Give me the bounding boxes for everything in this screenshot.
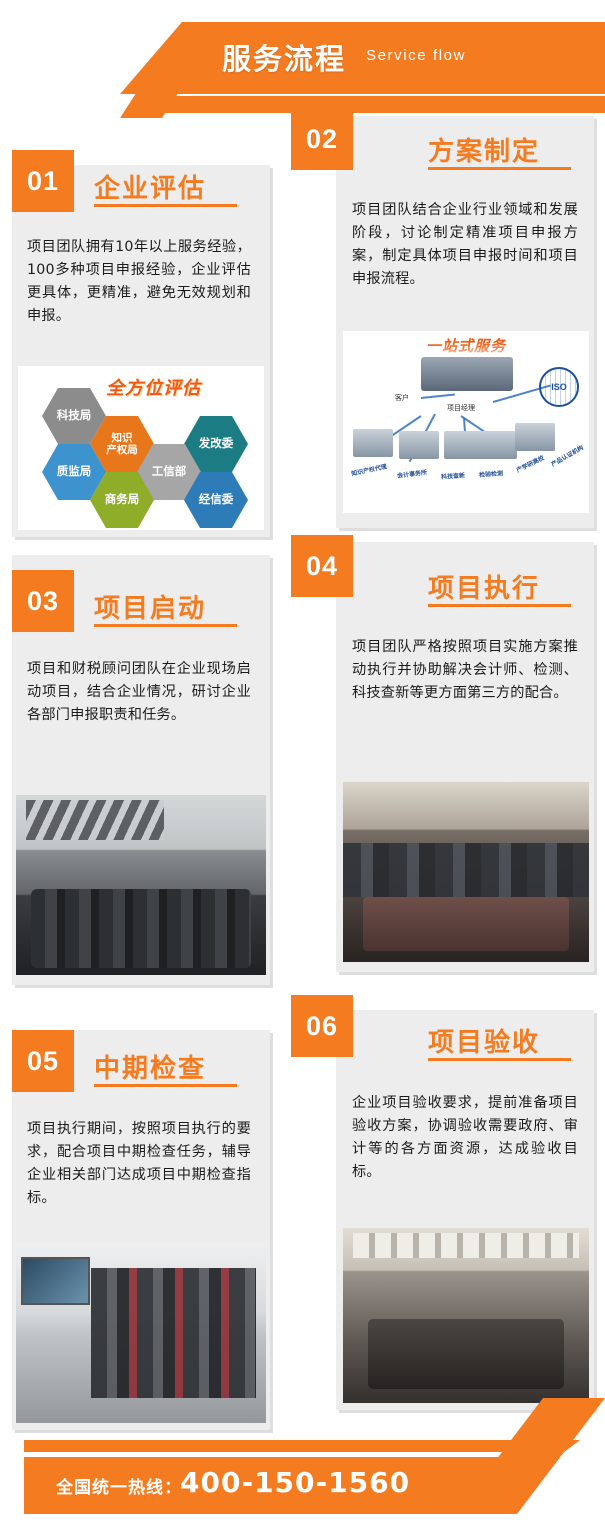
step-badge-02: 02 xyxy=(291,108,353,170)
step-badge-05: 05 xyxy=(12,1030,74,1092)
step-title-rule-05 xyxy=(94,1084,237,1087)
one-stop-node-label-search: 科技查新 xyxy=(441,470,466,481)
hotline-number[interactable]: 400-150-1560 xyxy=(180,1466,410,1499)
one-stop-node-photo xyxy=(399,431,439,459)
step-title-01: 企业评估 xyxy=(94,168,206,205)
one-stop-center-photo xyxy=(421,357,513,391)
one-stop-node-label-accounting: 会计事务所 xyxy=(397,467,428,480)
step-title-04: 项目执行 xyxy=(428,568,540,605)
step-title-06: 项目验收 xyxy=(428,1022,540,1059)
one-stop-node-photo xyxy=(515,423,555,451)
one-stop-title: 一站式服务 xyxy=(343,335,589,356)
step-title-03: 项目启动 xyxy=(94,588,206,625)
one-stop-arrow xyxy=(421,393,455,399)
header-thin-band xyxy=(148,96,605,113)
step-body-06: 企业项目验收要求，提前准备项目验收方案，协调验收需要政府、审计等的各方面资源，达… xyxy=(352,1092,578,1184)
step-badge-04: 04 xyxy=(291,535,353,597)
step-number-01: 01 xyxy=(27,166,59,197)
step-number-03: 03 xyxy=(27,586,59,617)
step-body-03: 项目和财税顾问团队在企业现场启动项目，结合企业情况，研讨企业各部门申报职责和任务… xyxy=(27,658,251,727)
step-number-02: 02 xyxy=(306,124,338,155)
hexagon-diagram: 全方位评估 科技局 知识 产权局 发改委 质监局 工信部 商务局 经信委 xyxy=(18,366,264,530)
one-stop-client-label: 客户 xyxy=(395,393,409,403)
boardroom-photo xyxy=(343,1228,589,1403)
page-header: 服务流程 Service flow xyxy=(0,0,605,118)
iso-seal-icon: ISO xyxy=(539,367,579,407)
one-stop-service-diagram: 一站式服务 客户 项目经理 知识产权代理 会计事务所 科技查新 检验检测 产学研… xyxy=(343,331,589,513)
conference-room-photo xyxy=(16,795,266,975)
one-stop-node-label-university: 产学研高校 xyxy=(515,453,546,474)
step-body-05: 项目执行期间，按照项目执行的要求，配合项目中期检查任务，辅导企业相关部门达成项目… xyxy=(27,1118,251,1210)
step-badge-01: 01 xyxy=(12,150,74,212)
step-body-04: 项目团队严格按照项目实施方案推动执行并协助解决会计师、检测、科技查新等更方面第三… xyxy=(352,636,578,705)
one-stop-node-label-ip: 知识产权代理 xyxy=(350,461,387,477)
page-subtitle: Service flow xyxy=(366,47,466,64)
one-stop-node-photo xyxy=(353,429,393,457)
one-stop-node-label-inspection: 检验检测 xyxy=(479,468,504,479)
one-stop-node-photo xyxy=(477,431,517,459)
step-title-rule-02 xyxy=(428,167,571,170)
footer-diagonal-accent xyxy=(455,1398,605,1514)
step-title-02: 方案制定 xyxy=(428,131,540,168)
step-title-rule-01 xyxy=(94,204,237,207)
meeting-laptops-photo xyxy=(343,782,589,962)
step-body-02: 项目团队结合企业行业领域和发展阶段，讨论制定精准项目申报方案，制定具体项目申报时… xyxy=(352,199,578,291)
footer-thin-band xyxy=(24,1440,580,1452)
step-number-04: 04 xyxy=(306,551,338,582)
step-title-rule-06 xyxy=(428,1058,571,1061)
step-badge-06: 06 xyxy=(291,995,353,1057)
step-body-01: 项目团队拥有10年以上服务经验，100多种项目申报经验，企业评估更具体，更精准，… xyxy=(27,236,251,328)
hotline-label: 全国统一热线： xyxy=(56,1473,182,1498)
hexagon-diagram-title: 全方位评估 xyxy=(106,374,201,400)
step-badge-03: 03 xyxy=(12,570,74,632)
step-title-rule-04 xyxy=(428,604,571,607)
lobby-visit-photo xyxy=(16,1243,266,1423)
step-title-05: 中期检查 xyxy=(94,1048,206,1085)
step-number-05: 05 xyxy=(27,1046,59,1077)
one-stop-center-label: 项目经理 xyxy=(447,403,475,413)
page-title: 服务流程 xyxy=(222,36,346,78)
step-number-06: 06 xyxy=(306,1011,338,1042)
step-title-rule-03 xyxy=(94,624,237,627)
